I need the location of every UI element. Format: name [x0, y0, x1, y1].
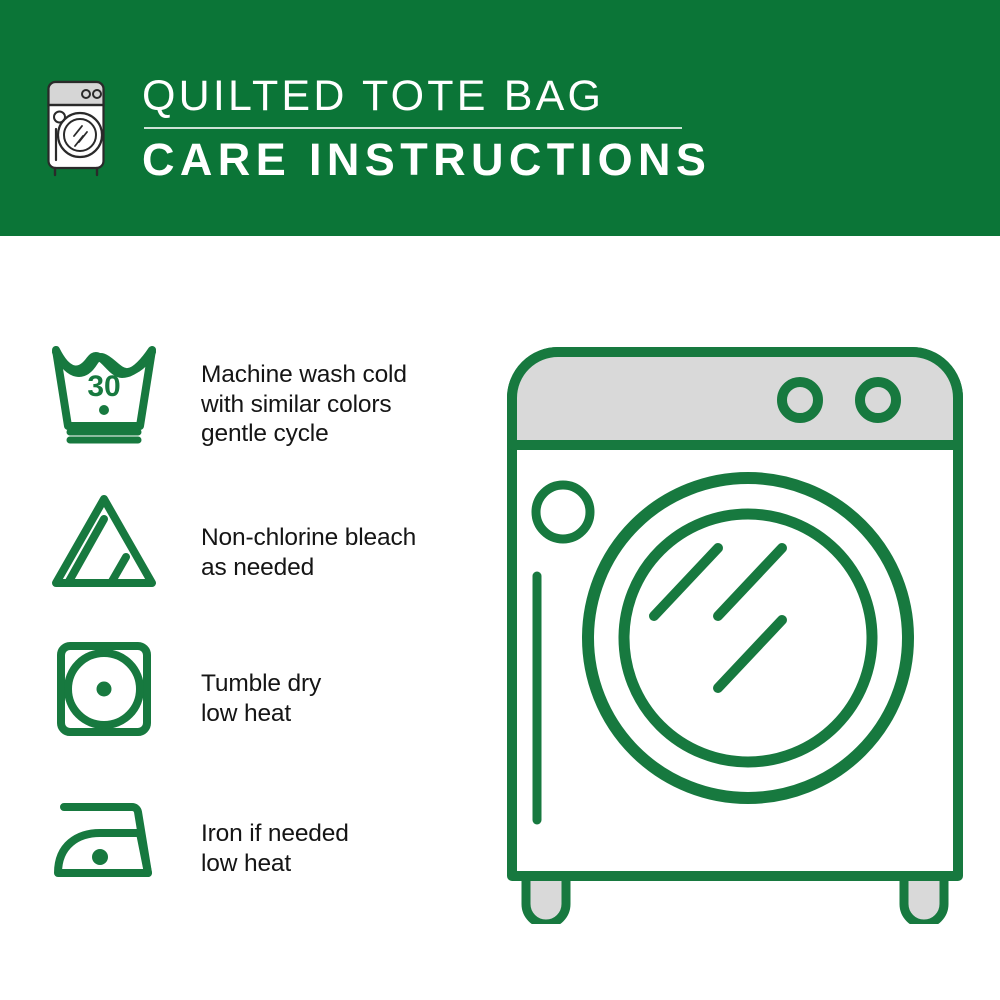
care-item-bleach: Non-chlorine bleach as needed: [0, 489, 480, 593]
bleach-triangle-icon: [48, 489, 160, 593]
title-divider: [144, 127, 682, 129]
washing-machine-icon: [45, 72, 107, 180]
care-item-label: Tumble dry low heat: [201, 638, 321, 728]
care-instructions-page: QUILTED TOTE BAG CARE INSTRUCTIONS: [0, 0, 1000, 1000]
wash-temp-label: 30: [87, 370, 120, 403]
care-item-label: Non-chlorine bleach as needed: [201, 489, 416, 582]
care-item-label: Iron if needed low heat: [201, 787, 349, 878]
care-item-tumble-dry: Tumble dry low heat: [0, 638, 480, 742]
header-title-block: QUILTED TOTE BAG CARE INSTRUCTIONS: [142, 70, 842, 187]
tumble-dry-icon: [48, 638, 160, 742]
care-item-label: Machine wash cold with similar colors ge…: [201, 340, 407, 449]
care-item-iron: Iron if needed low heat: [0, 787, 480, 891]
washing-machine-illustration: [496, 336, 974, 924]
page-title: QUILTED TOTE BAG: [142, 70, 842, 122]
wash-basin-30-icon: 30: [48, 340, 160, 444]
iron-icon: [48, 787, 160, 891]
care-item-machine-wash: 30 Machine wash cold with similar colors…: [0, 340, 480, 449]
page-subtitle: CARE INSTRUCTIONS: [142, 133, 842, 187]
care-instruction-list: 30 Machine wash cold with similar colors…: [0, 236, 500, 1000]
header-band: QUILTED TOTE BAG CARE INSTRUCTIONS: [0, 0, 1000, 236]
